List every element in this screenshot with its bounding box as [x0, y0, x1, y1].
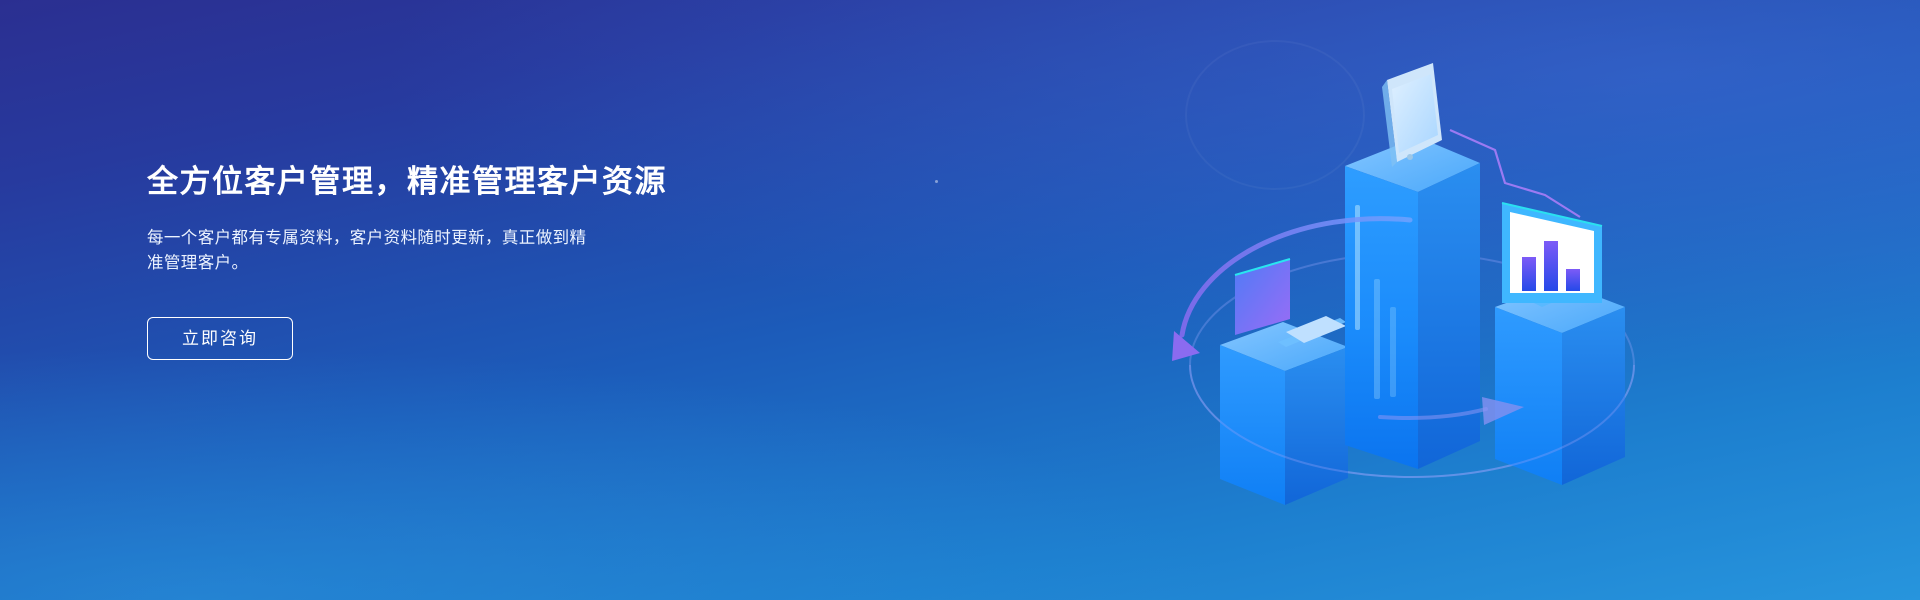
left-pillar-side — [1285, 347, 1348, 505]
hero-banner: 全方位客户管理，精准管理客户资源 每一个客户都有专属资料，客户资料随时更新，真正… — [0, 0, 1920, 600]
arrow-left-down-icon — [1172, 331, 1200, 361]
right-pillar-front — [1495, 307, 1562, 485]
left-pillar — [1220, 316, 1350, 525]
consult-now-button[interactable]: 立即咨询 — [147, 317, 293, 360]
hero-subcopy: 每一个客户都有专属资料，客户资料随时更新，真正做到精 准管理客户。 — [147, 226, 747, 277]
pillar-streak-3 — [1390, 307, 1396, 397]
subcopy-line-1: 每一个客户都有专属资料，客户资料随时更新，真正做到精 — [147, 229, 586, 247]
hero-copy-block: 全方位客户管理，精准管理客户资源 每一个客户都有专属资料，客户资料随时更新，真正… — [147, 163, 787, 360]
center-pillar-side — [1418, 163, 1480, 469]
hero-illustration — [1150, 35, 1670, 575]
chart-bar-2 — [1544, 241, 1558, 291]
monitor-icon — [1502, 203, 1602, 307]
chart-bar-1 — [1522, 257, 1536, 291]
background-spark-dot — [935, 180, 938, 183]
chart-bar-3 — [1566, 269, 1580, 291]
pillar-streak-1 — [1355, 205, 1360, 330]
right-pillar — [1495, 283, 1625, 485]
pillar-streak-2 — [1374, 279, 1380, 399]
subcopy-line-2: 准管理客户。 — [147, 254, 248, 272]
left-pillar-front — [1220, 345, 1285, 505]
tablet-home-button — [1407, 154, 1413, 160]
page-title: 全方位客户管理，精准管理客户资源 — [147, 163, 787, 202]
right-pillar-side — [1562, 307, 1625, 485]
